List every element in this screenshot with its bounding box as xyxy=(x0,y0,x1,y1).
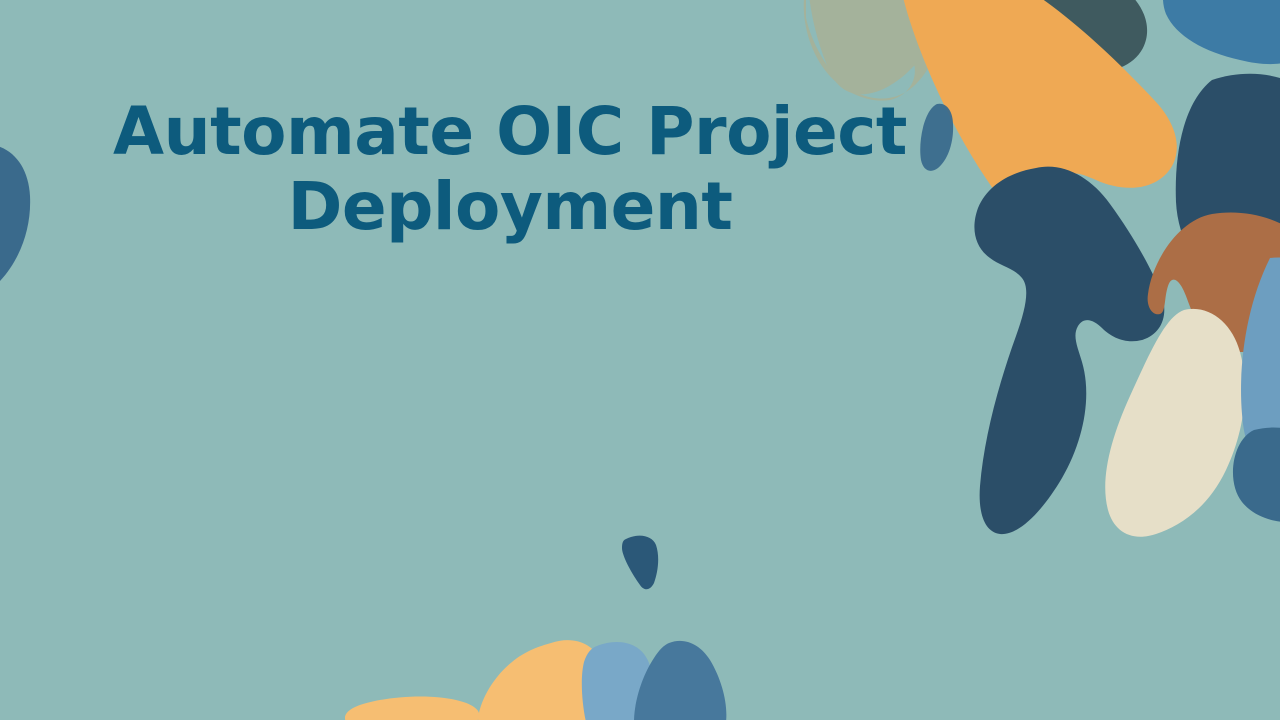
dark-navy-right-blob-shape xyxy=(1176,74,1280,305)
sage-green-leaf-shape xyxy=(804,0,937,101)
terracotta-wedge-shape xyxy=(1148,212,1280,352)
orange-petal-shape xyxy=(478,640,608,720)
steel-blue-petal-shape xyxy=(634,641,726,720)
light-blue-arc-shape xyxy=(1241,257,1280,483)
dark-slate-blob-shape xyxy=(971,0,1147,74)
dark-navy-boomerang-shape xyxy=(974,167,1164,534)
sage-green-leaf-body xyxy=(808,0,937,94)
slide-canvas: Automate OIC Project Deployment xyxy=(0,0,1280,720)
light-blue-petal-shape xyxy=(582,642,652,720)
medium-blue-teardrop-shape xyxy=(0,144,30,301)
light-orange-sliver-shape xyxy=(345,697,479,720)
slide-title: Automate OIC Project Deployment xyxy=(70,95,950,244)
cream-petal-shape xyxy=(1105,309,1245,537)
medium-blue-nub-shape xyxy=(1233,428,1280,523)
small-navy-triangle-shape xyxy=(622,536,658,590)
title-block: Automate OIC Project Deployment xyxy=(70,95,950,244)
steel-blue-blob-shape xyxy=(1163,0,1280,64)
